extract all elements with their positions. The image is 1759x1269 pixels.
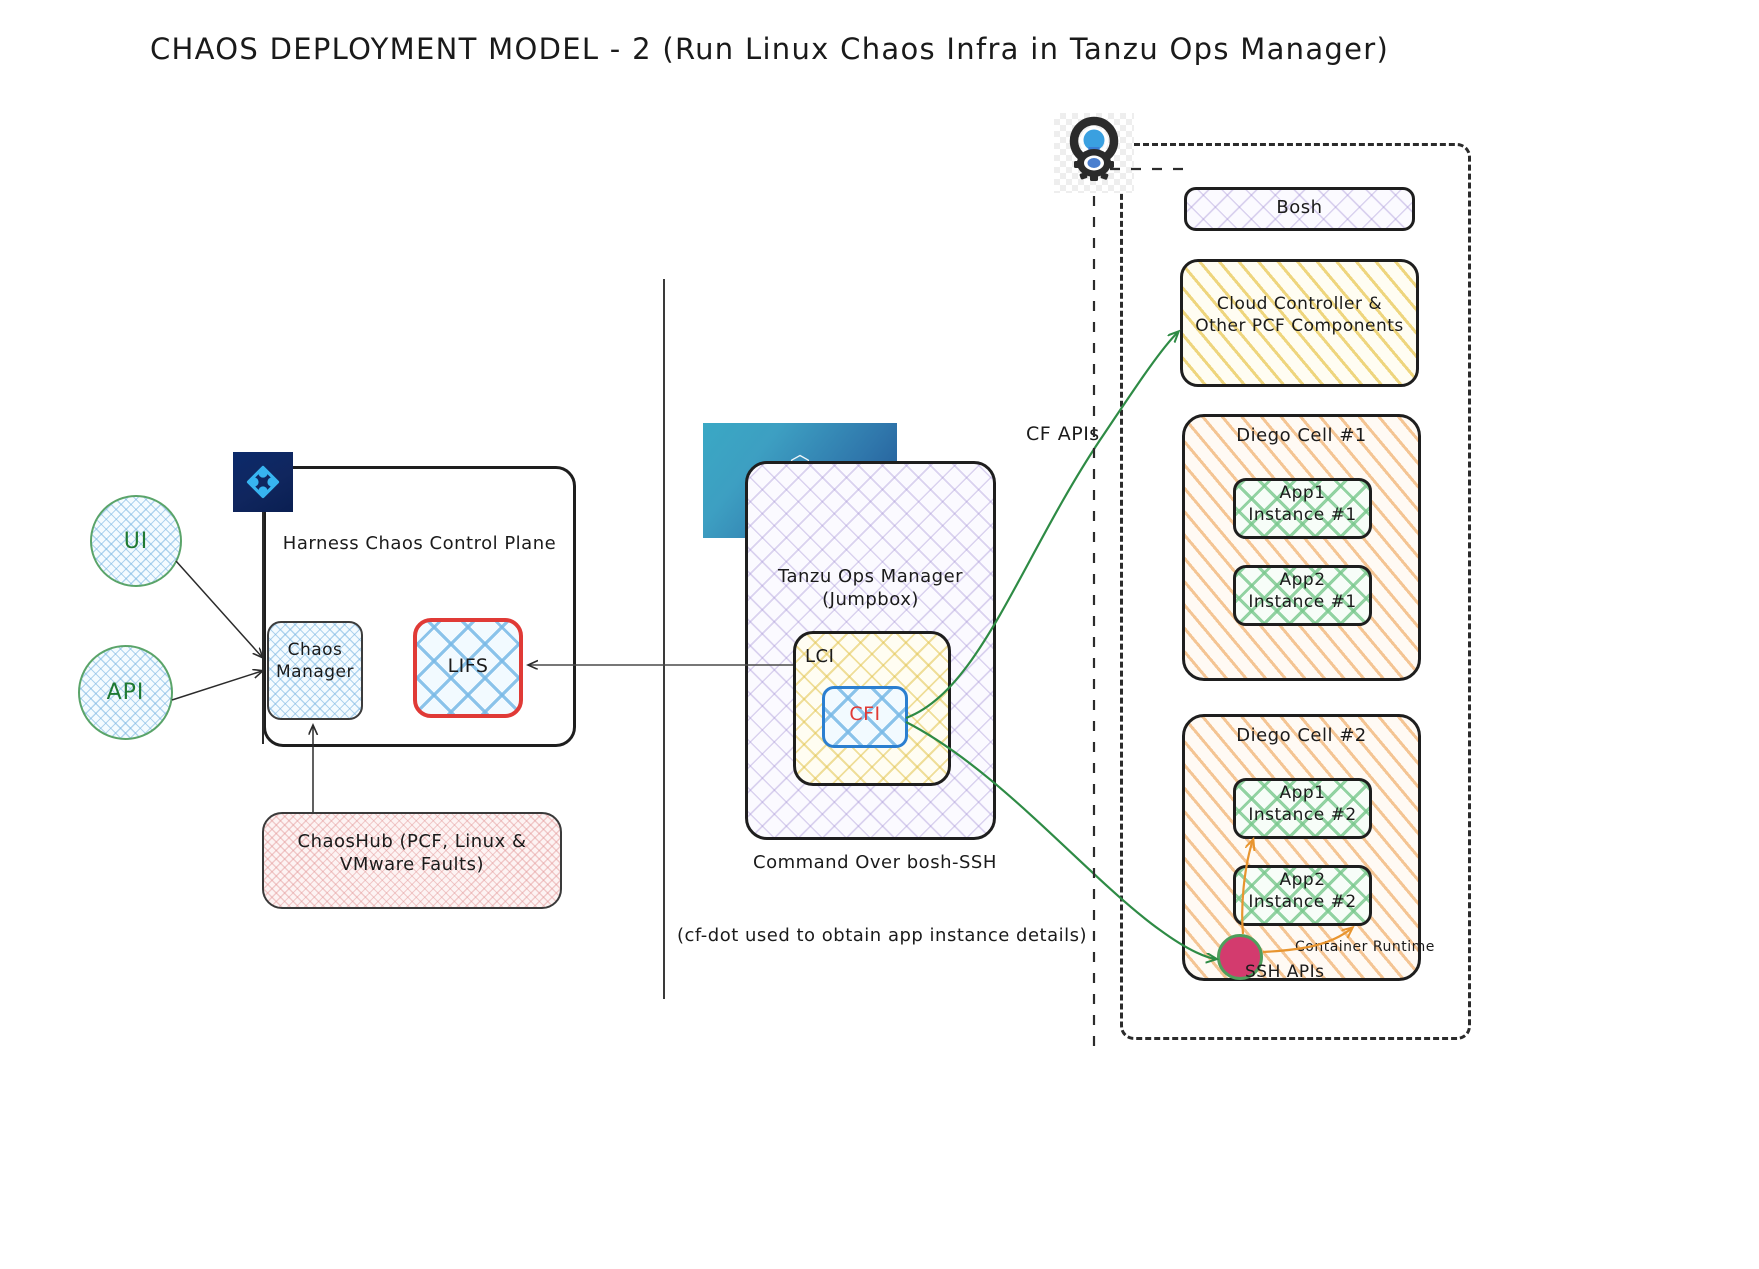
diego-cell-1-title: Diego Cell #1 bbox=[1182, 424, 1421, 447]
actor-ui-label: UI bbox=[124, 529, 149, 554]
harness-logo bbox=[233, 452, 293, 512]
app1-instance2-label: App1 Instance #2 bbox=[1233, 783, 1372, 827]
control-plane-title: Harness Chaos Control Plane bbox=[263, 532, 576, 555]
chaos-manager-label: Chaos Manager bbox=[267, 640, 363, 684]
cloud-controller-label: Cloud Controller & Other PCF Components bbox=[1180, 294, 1419, 338]
ssh-apis-label: SSH APIs bbox=[1245, 962, 1325, 982]
container-runtime-label: Container Runtime bbox=[1295, 939, 1435, 955]
cf-apis-edge-label: CF APIs bbox=[1026, 423, 1100, 445]
caption-bosh-ssh: Command Over bosh-SSH bbox=[753, 852, 997, 873]
diego-cell-1 bbox=[1182, 414, 1421, 681]
app2-instance2-label: App2 Instance #2 bbox=[1233, 870, 1372, 914]
lifs-label: LIFS bbox=[413, 654, 523, 678]
edge-ui-to-chaos-manager bbox=[176, 561, 262, 657]
app2-instance1-label: App2 Instance #1 bbox=[1233, 570, 1372, 614]
actor-api[interactable]: API bbox=[78, 645, 173, 740]
bosh-label: Bosh bbox=[1184, 196, 1415, 219]
actor-api-label: API bbox=[107, 680, 145, 705]
diagram-canvas: CHAOS DEPLOYMENT MODEL - 2 (Run Linux Ch… bbox=[0, 0, 1759, 1269]
edge-api-to-chaos-manager bbox=[172, 671, 262, 700]
cfi-label: CFI bbox=[822, 702, 908, 726]
page-title: CHAOS DEPLOYMENT MODEL - 2 (Run Linux Ch… bbox=[150, 32, 1389, 66]
vertical-divider bbox=[663, 279, 665, 999]
caption-cfdot: (cf-dot used to obtain app instance deta… bbox=[677, 925, 1087, 946]
chaoshub-label: ChaosHub (PCF, Linux & VMware Faults) bbox=[262, 830, 562, 876]
tanzu-ops-manager-title: Tanzu Ops Manager (Jumpbox) bbox=[745, 565, 996, 611]
actor-ui[interactable]: UI bbox=[90, 495, 182, 587]
diego-cell-2-title: Diego Cell #2 bbox=[1182, 724, 1421, 747]
cloud-foundry-logo bbox=[1054, 113, 1134, 193]
lci-label: LCI bbox=[805, 646, 834, 667]
app1-instance1-label: App1 Instance #1 bbox=[1233, 483, 1372, 527]
